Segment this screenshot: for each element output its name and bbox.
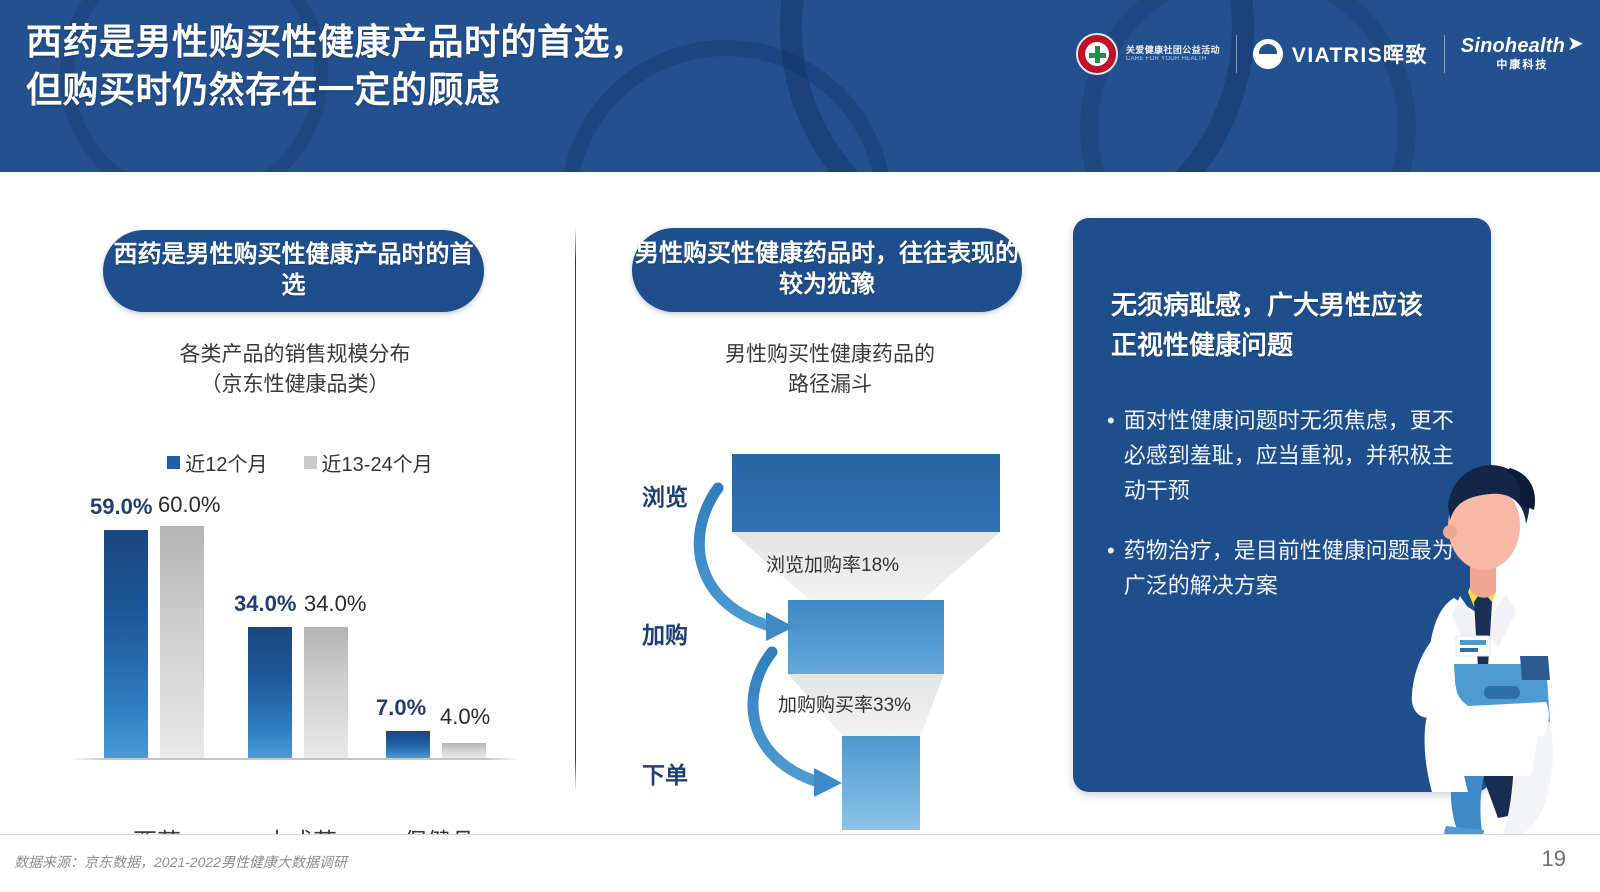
page-title-line2: 但购买时仍然存在一定的顾虑 <box>26 66 1026 114</box>
panel1-subtitle: 各类产品的销售规模分布 （京东性健康品类） <box>70 340 520 400</box>
logo-bar: 关爱健康社团公益活动 CARE FOR YOUR HEALTH VIATRIS晖… <box>1076 26 1584 82</box>
panel2-subtitle-line2: 路径漏斗 <box>620 370 1040 400</box>
chart-plot-area: 59.0% 60.0% 西药 34.0% 34.0% 中成药 <box>60 492 540 760</box>
bar-value-label: 34.0% <box>234 591 296 617</box>
legend-swatch-icon <box>304 456 317 469</box>
legend-label: 近12个月 <box>185 448 267 477</box>
legend-swatch-icon <box>167 456 180 469</box>
panel1-subtitle-line2: （京东性健康品类） <box>70 370 520 400</box>
funnel-arrows <box>620 440 1040 830</box>
seal-logo-cn-text: 关爱健康社团公益活动 <box>1126 45 1220 55</box>
logo-divider <box>1236 35 1237 73</box>
panel2-heading-pill: 男性购买性健康药品时，往往表现的较为犹豫 <box>632 228 1022 312</box>
swoosh-icon: ➤ <box>1567 34 1584 54</box>
sinohealth-logo-en-text: Sinohealth <box>1461 35 1565 57</box>
panel1-heading-pill: 西药是男性购买性健康产品时的首选 <box>103 230 484 312</box>
red-seal-cross-icon <box>1076 33 1118 75</box>
seal-logo-en-text: CARE FOR YOUR HEALTH <box>1126 56 1220 63</box>
legend-label: 近13-24个月 <box>322 448 433 477</box>
bar-value-label: 59.0% <box>90 494 152 520</box>
sinohealth-logo-cn-text: 中康科技 <box>1496 58 1548 72</box>
logo-divider <box>1444 35 1445 73</box>
bar-baojianpin-recent12 <box>386 731 430 758</box>
logo-health-association: 关爱健康社团公益活动 CARE FOR YOUR HEALTH <box>1076 33 1220 75</box>
data-source-note: 数据来源：京东数据，2021-2022男性健康大数据调研 <box>14 852 347 872</box>
bar-group-zhongchengyao: 34.0% 34.0% 中成药 <box>226 492 376 758</box>
bar-baojianpin-recent1324 <box>442 743 486 758</box>
slide-header: 西药是男性购买性健康产品时的首选， 但购买时仍然存在一定的顾虑 关爱健康社团公益… <box>0 0 1600 172</box>
bar-chart: 近12个月 近13-24个月 59.0% 60.0% 西药 <box>60 440 540 820</box>
panel2-subtitle-line1: 男性购买性健康药品的 <box>620 340 1040 370</box>
slide: 西药是男性购买性健康产品时的首选， 但购买时仍然存在一定的顾虑 关爱健康社团公益… <box>0 0 1600 892</box>
bar-group-baojianpin: 7.0% 4.0% 保健品 <box>364 492 514 758</box>
page-title: 西药是男性购买性健康产品时的首选， 但购买时仍然存在一定的顾虑 <box>26 18 1026 114</box>
logo-sinohealth: Sinohealth➤ 中康科技 <box>1461 36 1584 72</box>
panel3-title: 无须病耻感，广大男性应该正视性健康问题 <box>1111 286 1441 365</box>
bar-zhongchengyao-recent12 <box>248 627 292 758</box>
bullet-dot-icon: • <box>1107 534 1115 604</box>
bar-xiyao-recent12 <box>104 530 148 758</box>
bar-zhongchengyao-recent1324 <box>304 627 348 758</box>
bar-value-label: 60.0% <box>158 492 220 518</box>
panel-divider <box>575 226 576 792</box>
legend-item-recent-12-months: 近12个月 <box>167 448 267 477</box>
page-number: 19 <box>1542 846 1566 872</box>
doctor-illustration <box>1398 440 1594 852</box>
chart-legend: 近12个月 近13-24个月 <box>60 448 540 477</box>
bar-value-label: 7.0% <box>376 695 426 721</box>
chart-baseline <box>70 758 520 760</box>
bar-xiyao-recent1324 <box>160 526 204 758</box>
slide-footer: 数据来源：京东数据，2021-2022男性健康大数据调研 19 <box>0 834 1600 892</box>
funnel-chart: 浏览 加购 下单 浏览加购率18% 加购购买率33% <box>620 440 1040 830</box>
logo-viatris: VIATRIS晖致 <box>1253 39 1428 69</box>
bullet-dot-icon: • <box>1107 404 1115 508</box>
bar-value-label: 34.0% <box>304 591 366 617</box>
footer-divider <box>0 834 1600 835</box>
panel1-subtitle-line1: 各类产品的销售规模分布 <box>70 340 520 370</box>
viatris-logo-text: VIATRIS晖致 <box>1292 39 1428 69</box>
bar-group-xiyao: 59.0% 60.0% 西药 <box>82 492 232 758</box>
bar-value-label: 4.0% <box>440 704 490 730</box>
panel2-subtitle: 男性购买性健康药品的 路径漏斗 <box>620 340 1040 400</box>
viatris-globe-icon <box>1253 39 1283 69</box>
page-title-line1: 西药是男性购买性健康产品时的首选， <box>26 21 647 62</box>
legend-item-recent-13-24-months: 近13-24个月 <box>304 448 433 477</box>
